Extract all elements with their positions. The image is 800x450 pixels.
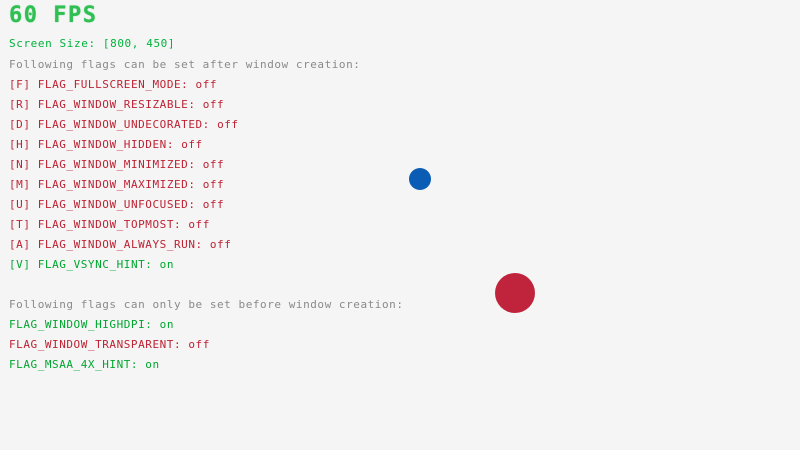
flag-value: off bbox=[203, 178, 225, 191]
flag-label: FLAG_WINDOW_UNDECORATED: bbox=[38, 118, 210, 131]
flag-row-after-1[interactable]: [R] FLAG_WINDOW_RESIZABLE: off bbox=[9, 98, 224, 111]
flag-label: FLAG_WINDOW_UNFOCUSED: bbox=[38, 198, 196, 211]
flag-label: FLAG_WINDOW_RESIZABLE: bbox=[38, 98, 196, 111]
flag-value: off bbox=[188, 338, 210, 351]
flag-row-after-6[interactable]: [U] FLAG_WINDOW_UNFOCUSED: off bbox=[9, 198, 224, 211]
flag-key: [U] bbox=[9, 198, 31, 211]
flag-row-after-3[interactable]: [H] FLAG_WINDOW_HIDDEN: off bbox=[9, 138, 203, 151]
app-window: 60 FPS Screen Size: [800, 450] Following… bbox=[0, 0, 800, 450]
flag-value: off bbox=[203, 98, 225, 111]
flag-value: on bbox=[160, 258, 174, 271]
flag-row-before-0[interactable]: FLAG_WINDOW_HIGHDPI: on bbox=[9, 318, 174, 331]
flag-key: [N] bbox=[9, 158, 31, 171]
flag-value: on bbox=[160, 318, 174, 331]
flag-row-after-2[interactable]: [D] FLAG_WINDOW_UNDECORATED: off bbox=[9, 118, 239, 131]
fps-counter: 60 FPS bbox=[9, 4, 97, 28]
flag-row-after-8[interactable]: [A] FLAG_WINDOW_ALWAYS_RUN: off bbox=[9, 238, 231, 251]
flag-value: off bbox=[203, 198, 225, 211]
flag-key: [F] bbox=[9, 78, 31, 91]
flag-row-before-2[interactable]: FLAG_MSAA_4X_HINT: on bbox=[9, 358, 160, 371]
flag-row-after-4[interactable]: [N] FLAG_WINDOW_MINIMIZED: off bbox=[9, 158, 224, 171]
flag-value: off bbox=[210, 238, 232, 251]
flag-label: FLAG_WINDOW_TRANSPARENT: bbox=[9, 338, 181, 351]
flag-row-after-5[interactable]: [M] FLAG_WINDOW_MAXIMIZED: off bbox=[9, 178, 224, 191]
section-header-before-creation: Following flags can only be set before w… bbox=[9, 298, 404, 311]
ball-red bbox=[495, 273, 535, 313]
flag-label: FLAG_WINDOW_ALWAYS_RUN: bbox=[38, 238, 203, 251]
flag-label: FLAG_WINDOW_MINIMIZED: bbox=[38, 158, 196, 171]
flag-key: [A] bbox=[9, 238, 31, 251]
flag-key: [V] bbox=[9, 258, 31, 271]
flag-label: FLAG_WINDOW_TOPMOST: bbox=[38, 218, 181, 231]
flag-key: [H] bbox=[9, 138, 31, 151]
flag-key: [R] bbox=[9, 98, 31, 111]
flag-label: FLAG_WINDOW_HIGHDPI: bbox=[9, 318, 152, 331]
flag-row-after-7[interactable]: [T] FLAG_WINDOW_TOPMOST: off bbox=[9, 218, 210, 231]
screen-size-label: Screen Size: [800, 450] bbox=[9, 37, 175, 50]
flag-label: FLAG_FULLSCREEN_MODE: bbox=[38, 78, 189, 91]
flag-key: [D] bbox=[9, 118, 31, 131]
flag-label: FLAG_WINDOW_HIDDEN: bbox=[38, 138, 174, 151]
flag-value: off bbox=[217, 118, 239, 131]
flag-value: off bbox=[196, 78, 218, 91]
flag-value: off bbox=[188, 218, 210, 231]
flag-key: [M] bbox=[9, 178, 31, 191]
flag-row-before-1[interactable]: FLAG_WINDOW_TRANSPARENT: off bbox=[9, 338, 210, 351]
flag-label: FLAG_VSYNC_HINT: bbox=[38, 258, 153, 271]
flag-label: FLAG_WINDOW_MAXIMIZED: bbox=[38, 178, 196, 191]
flag-value: off bbox=[203, 158, 225, 171]
flag-row-after-0[interactable]: [F] FLAG_FULLSCREEN_MODE: off bbox=[9, 78, 217, 91]
section-header-after-creation: Following flags can be set after window … bbox=[9, 58, 360, 71]
flag-key: [T] bbox=[9, 218, 31, 231]
flag-value: on bbox=[145, 358, 159, 371]
flag-value: off bbox=[181, 138, 203, 151]
flag-row-after-9[interactable]: [V] FLAG_VSYNC_HINT: on bbox=[9, 258, 174, 271]
ball-blue bbox=[409, 168, 431, 190]
flag-label: FLAG_MSAA_4X_HINT: bbox=[9, 358, 138, 371]
